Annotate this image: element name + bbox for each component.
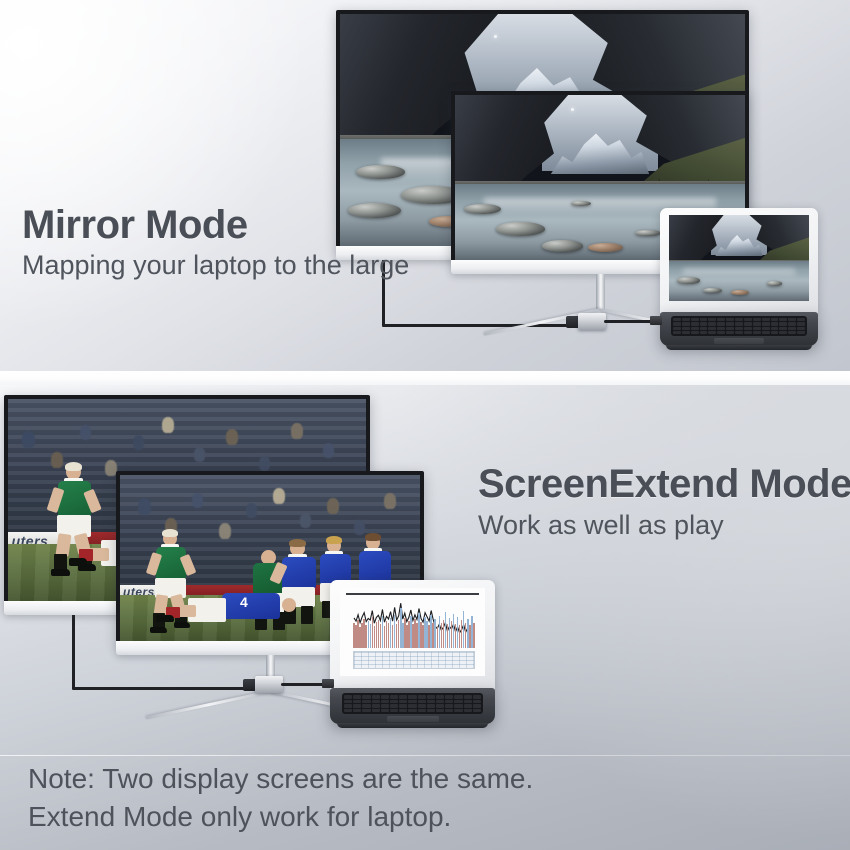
- laptop-lid: [660, 208, 818, 314]
- cable-back-monitor-horizontal: [382, 324, 572, 327]
- laptop-valley-artwork: [669, 215, 809, 301]
- laptop-plug-mirror: [650, 316, 662, 325]
- section-divider: [0, 371, 850, 385]
- note-line-2: Extend Mode only work for laptop.: [28, 798, 533, 836]
- product-infographic: Mirror Mode Mapping your laptop to the l…: [0, 0, 850, 850]
- hdmi-adapter-mirror: [578, 313, 606, 330]
- cable-back-monitor-horizontal-2: [72, 687, 247, 690]
- chart-bar: [473, 623, 475, 648]
- note-line-1: Note: Two display screens are the same.: [28, 760, 533, 798]
- bar-line-chart: [353, 600, 475, 648]
- laptop-base: [660, 312, 818, 346]
- mirror-mode-subtitle: Mapping your laptop to the large: [22, 250, 409, 281]
- mirror-mode-title: Mirror Mode: [22, 203, 248, 248]
- note-text: Note: Two display screens are the same. …: [28, 760, 533, 836]
- screenextend-mode-title: ScreenExtend Mode: [478, 462, 850, 507]
- screenextend-mode-section: uters: [0, 385, 850, 850]
- hdmi-adapter-extend: [255, 676, 283, 693]
- laptop-base-front-edge-2: [337, 723, 489, 728]
- laptop-keyboard-2[interactable]: [342, 693, 483, 714]
- laptop-mirror: [660, 208, 818, 348]
- laptop-extend: [330, 580, 495, 725]
- laptop-trackpad[interactable]: [714, 338, 764, 344]
- player-blue-prone-2: 4: [174, 591, 314, 641]
- laptop-keyboard[interactable]: [671, 316, 807, 336]
- mirror-mode-section: Mirror Mode Mapping your laptop to the l…: [0, 0, 850, 371]
- laptop-base-2: [330, 688, 495, 724]
- sheet-data-grid[interactable]: [353, 651, 475, 669]
- front-monitor-neck: [596, 274, 605, 309]
- front-monitor-foot-left-2: [145, 690, 271, 720]
- laptop-base-front-edge: [666, 345, 811, 350]
- laptop-screen: [669, 215, 809, 301]
- sheet-header-rule: [346, 593, 479, 595]
- spreadsheet-app: [340, 588, 485, 676]
- laptop-plug-extend: [322, 679, 334, 688]
- screenextend-mode-subtitle: Work as well as play: [478, 510, 724, 541]
- laptop-lid-2: [330, 580, 495, 690]
- laptop-trackpad-2[interactable]: [387, 716, 439, 722]
- laptop-screen-2: [340, 588, 485, 676]
